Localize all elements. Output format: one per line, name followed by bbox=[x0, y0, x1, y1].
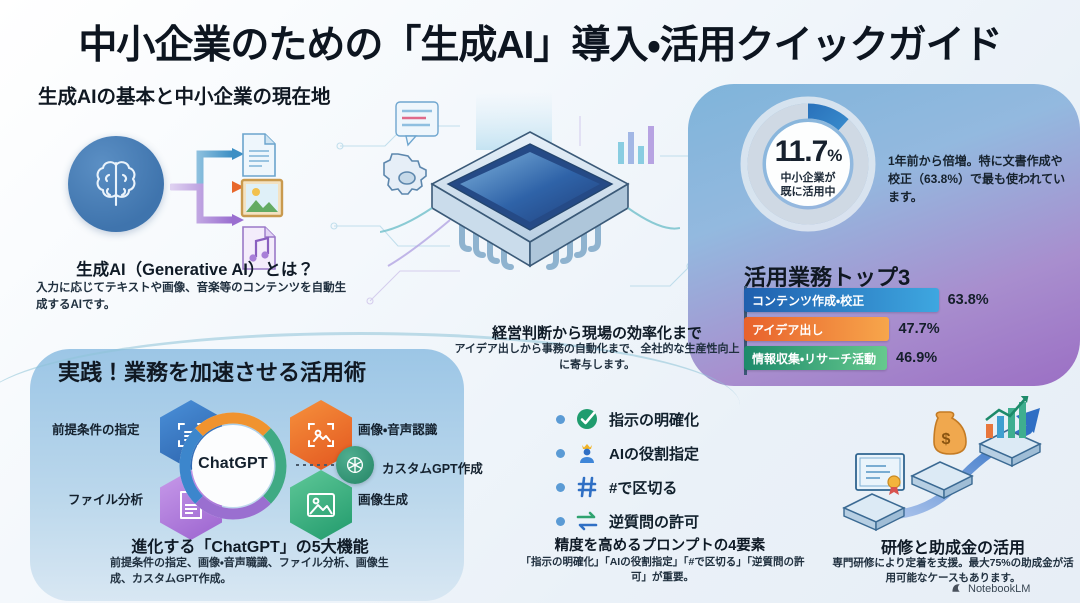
prompt-list-item[interactable]: AIの役割指定 bbox=[556, 438, 786, 468]
feature-label-file-analysis: ファイル分析 bbox=[68, 489, 143, 508]
page-title: 中小企業のための「生成AI」導入・活用クイックガイド bbox=[0, 14, 1080, 70]
chart-bar-label: 情報収集・リサーチ活動 bbox=[744, 350, 876, 367]
prompt-list-item[interactable]: #で区切る bbox=[556, 472, 786, 502]
prompt-item-label: #で区切る bbox=[609, 477, 677, 498]
prompt-caption-title: 精度を高めるプロンプトの4要素 bbox=[500, 534, 820, 555]
prompt-list-item[interactable]: 指示の明確化 bbox=[556, 404, 786, 434]
svg-text:$: $ bbox=[942, 431, 951, 448]
feature-label-precondition: 前提条件の指定 bbox=[52, 419, 140, 438]
openai-logo-icon[interactable] bbox=[336, 446, 374, 484]
document-icon bbox=[240, 132, 278, 178]
prompt-item-label: 指示の明確化 bbox=[609, 409, 699, 430]
chatgpt-center-label: ChatGPT bbox=[175, 455, 291, 473]
bullet-dot bbox=[556, 449, 565, 458]
chart-bar: 情報収集・リサーチ活動 bbox=[744, 346, 887, 370]
section-heading-basics: 生成AIの基本と中小企業の現在地 bbox=[38, 80, 331, 109]
prompt-element-list: 指示の明確化AIの役割指定#で区切る逆質問の許可 bbox=[556, 404, 786, 540]
prompt-item-label: AIの役割指定 bbox=[609, 443, 699, 464]
center-caption-title: 経営判断から現場の効率化まで bbox=[452, 322, 742, 343]
feature-label-image-gen: 画像生成 bbox=[358, 489, 408, 508]
hash-icon bbox=[574, 474, 600, 500]
chatgpt-caption-title: 進化する「ChatGPT」の5大機能 bbox=[70, 533, 430, 557]
footer-brand: NotebookLM bbox=[968, 583, 1030, 595]
chart-bar-label: アイデア出し bbox=[744, 321, 823, 338]
center-caption-desc: アイデア出しから事務の自動化まで、全社的な生産性向上に寄与します。 bbox=[452, 342, 742, 373]
training-illustration: $ bbox=[840, 396, 1070, 531]
section-heading-practice: 実践！業務を加速させる活用術 bbox=[58, 355, 366, 387]
notebooklm-footer: NotebookLM bbox=[950, 582, 1030, 595]
feature-label-custom-gpt: カスタムGPT作成 bbox=[382, 458, 483, 477]
chart-bar-row: コンテンツ作成・校正63.8% bbox=[744, 288, 1064, 312]
image-icon bbox=[240, 178, 284, 218]
chatgpt-ring: ChatGPT bbox=[175, 408, 291, 524]
donut-note: 1年前から倍増。特に文書作成や校正（63.8%）で最も使われています。 bbox=[888, 152, 1073, 206]
bullet-dot bbox=[556, 415, 565, 424]
chart-bar: コンテンツ作成・校正 bbox=[744, 288, 939, 312]
chart-bar-row: 情報収集・リサーチ活動46.9% bbox=[744, 346, 1064, 370]
prompt-caption-desc: 「指示の明確化」「AIの役割指定」「#で区切る」「逆質問の許可」が重要。 bbox=[520, 555, 805, 585]
adoption-donut-chart: 11.7% 中小企業が既に活用中 bbox=[737, 93, 879, 235]
training-caption-title: 研修と助成金の活用 bbox=[828, 534, 1078, 558]
chart-bar-value: 46.9% bbox=[896, 350, 937, 366]
bullet-dot bbox=[556, 517, 565, 526]
prompt-list-item[interactable]: 逆質問の許可 bbox=[556, 506, 786, 536]
check-circle-icon bbox=[574, 406, 600, 432]
prompt-item-label: 逆質問の許可 bbox=[609, 511, 699, 532]
donut-sublabel: 中小企業が既に活用中 bbox=[737, 171, 879, 200]
chart-bar-label: コンテンツ作成・校正 bbox=[744, 292, 864, 309]
donut-value: 11.7% bbox=[737, 135, 879, 169]
dotted-connector bbox=[296, 464, 336, 466]
chart-bars: コンテンツ作成・校正63.8%アイデア出し47.7%情報収集・リサーチ活動46.… bbox=[744, 288, 1064, 375]
notebooklm-logo-icon bbox=[950, 582, 963, 595]
chatgpt-caption-desc: 前提条件の指定、画像・音声職識、ファイル分析、画像生成、カスタムGPT作成。 bbox=[110, 556, 395, 588]
cpu-chip-illustration bbox=[380, 92, 680, 322]
chart-bar-row: アイデア出し47.7% bbox=[744, 317, 1064, 341]
bullet-dot bbox=[556, 483, 565, 492]
crown-person-icon bbox=[574, 440, 600, 466]
generative-ai-title: 生成AI（Generative AI）とは？ bbox=[30, 256, 360, 280]
brain-icon bbox=[68, 136, 164, 232]
chart-bar: アイデア出し bbox=[744, 317, 889, 341]
feature-label-image-voice: 画像・音声認識 bbox=[358, 419, 437, 438]
chart-bar-value: 47.7% bbox=[898, 321, 939, 337]
chart-bar-value: 63.8% bbox=[948, 292, 989, 308]
generative-ai-desc: 入力に応じてテキストや画像、音楽等のコンテンツを自動生成するAIです。 bbox=[36, 280, 356, 313]
feature-hex-image-gen[interactable] bbox=[290, 470, 352, 540]
infographic-canvas: 中小企業のための「生成AI」導入・活用クイックガイド 生成AIの基本と中小企業の… bbox=[0, 0, 1080, 603]
exchange-arrows-icon bbox=[574, 508, 600, 534]
